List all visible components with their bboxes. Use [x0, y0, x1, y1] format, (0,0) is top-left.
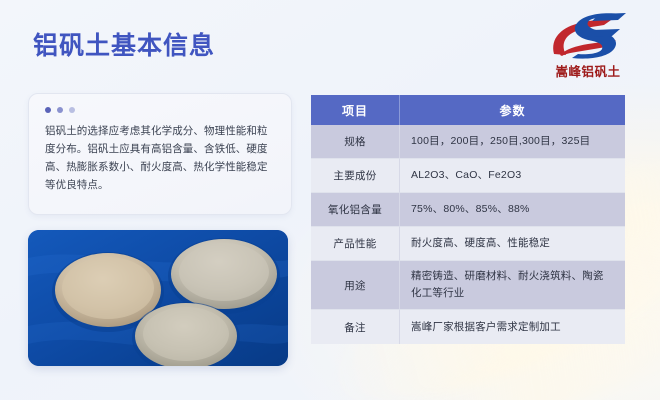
table-row: 氧化铝含量 75%、80%、85%、88% — [311, 193, 625, 227]
row-label-composition: 主要成份 — [311, 159, 400, 193]
row-label-remark: 备注 — [311, 310, 400, 344]
bauxite-powder-photo — [28, 230, 288, 366]
slide-canvas: 铝矾土基本信息 嵩峰铝矾土 铝矾土的选择应考虑其化学成分、物理性能和粒度分布。铝… — [0, 0, 660, 400]
page-title: 铝矾土基本信息 — [33, 26, 215, 62]
table-row: 主要成份 AL2O3、CaO、Fe2O3 — [311, 159, 625, 193]
table-header-param: 参数 — [400, 95, 625, 125]
row-value-usage: 精密铸造、研磨材料、耐火浇筑料、陶瓷化工等行业 — [400, 261, 625, 310]
photo-illustration — [28, 230, 288, 366]
row-label-usage: 用途 — [311, 261, 400, 310]
specification-table: 项目 参数 规格 100目，200目，250目,300目，325目 主要成份 A… — [311, 95, 625, 344]
dot-icon-2 — [57, 107, 63, 113]
row-value-composition: AL2O3、CaO、Fe2O3 — [400, 159, 625, 193]
row-value-remark: 嵩峰厂家根据客户需求定制加工 — [400, 310, 625, 344]
row-value-performance: 耐火度高、硬度高、性能稳定 — [400, 227, 625, 261]
table-header: 项目 参数 — [311, 95, 625, 125]
dot-icon-1 — [45, 107, 51, 113]
row-label-performance: 产品性能 — [311, 227, 400, 261]
dot-icon-3 — [69, 107, 75, 113]
info-card: 铝矾土的选择应考虑其化学成分、物理性能和粒度分布。铝矾土应具有高铝含量、含铁低、… — [28, 93, 292, 215]
table-row: 产品性能 耐火度高、硬度高、性能稳定 — [311, 227, 625, 261]
row-value-alumina-content: 75%、80%、85%、88% — [400, 193, 625, 227]
logo-mark-icon — [542, 8, 634, 60]
table-body: 规格 100目，200目，250目,300目，325目 主要成份 AL2O3、C… — [311, 125, 625, 344]
logo-text: 嵩峰铝矾土 — [555, 61, 620, 80]
table-row: 备注 嵩峰厂家根据客户需求定制加工 — [311, 310, 625, 344]
row-value-spec: 100目，200目，250目,300目，325目 — [400, 125, 625, 159]
card-dots — [45, 107, 275, 113]
info-card-text: 铝矾土的选择应考虑其化学成分、物理性能和粒度分布。铝矾土应具有高铝含量、含铁低、… — [45, 122, 275, 194]
row-label-alumina-content: 氧化铝含量 — [311, 193, 400, 227]
table-header-row: 项目 参数 — [311, 95, 625, 125]
table-header-item: 项目 — [311, 95, 400, 125]
brand-logo: 嵩峰铝矾土 — [534, 8, 642, 84]
table-row: 用途 精密铸造、研磨材料、耐火浇筑料、陶瓷化工等行业 — [311, 261, 625, 310]
table-row: 规格 100目，200目，250目,300目，325目 — [311, 125, 625, 159]
row-label-spec: 规格 — [311, 125, 400, 159]
